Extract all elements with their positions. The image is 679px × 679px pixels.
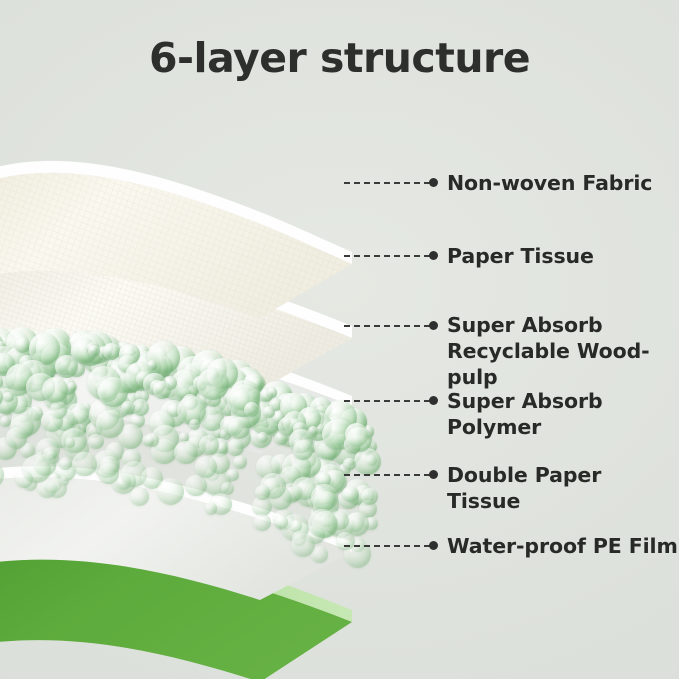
layer-label-2: Paper Tissue (447, 243, 594, 269)
layer-label-3: Super Absorb Recyclable Wood-pulp (447, 312, 679, 390)
leader-dot-2 (429, 251, 438, 260)
leader-line-1 (344, 182, 430, 184)
leader-line-6 (344, 545, 430, 547)
leader-dot-6 (429, 541, 438, 550)
leader-line-5 (344, 474, 430, 476)
infographic-canvas: 6-layer structure (0, 0, 679, 679)
leader-dot-4 (429, 396, 438, 405)
layer-label-1: Non-woven Fabric (447, 170, 652, 196)
leader-line-3 (344, 325, 430, 327)
leader-dot-1 (429, 178, 438, 187)
leader-dot-5 (429, 470, 438, 479)
layer-label-4: Super Absorb Polymer (447, 388, 679, 440)
page-title: 6-layer structure (0, 34, 679, 82)
layer-shape-non-woven-fabric (0, 82, 420, 342)
layer-label-5: Double Paper Tissue (447, 462, 679, 514)
leader-line-4 (344, 400, 430, 402)
layer-label-6: Water-proof PE Film (447, 533, 678, 559)
leader-line-2 (344, 255, 430, 257)
leader-dot-3 (429, 321, 438, 330)
